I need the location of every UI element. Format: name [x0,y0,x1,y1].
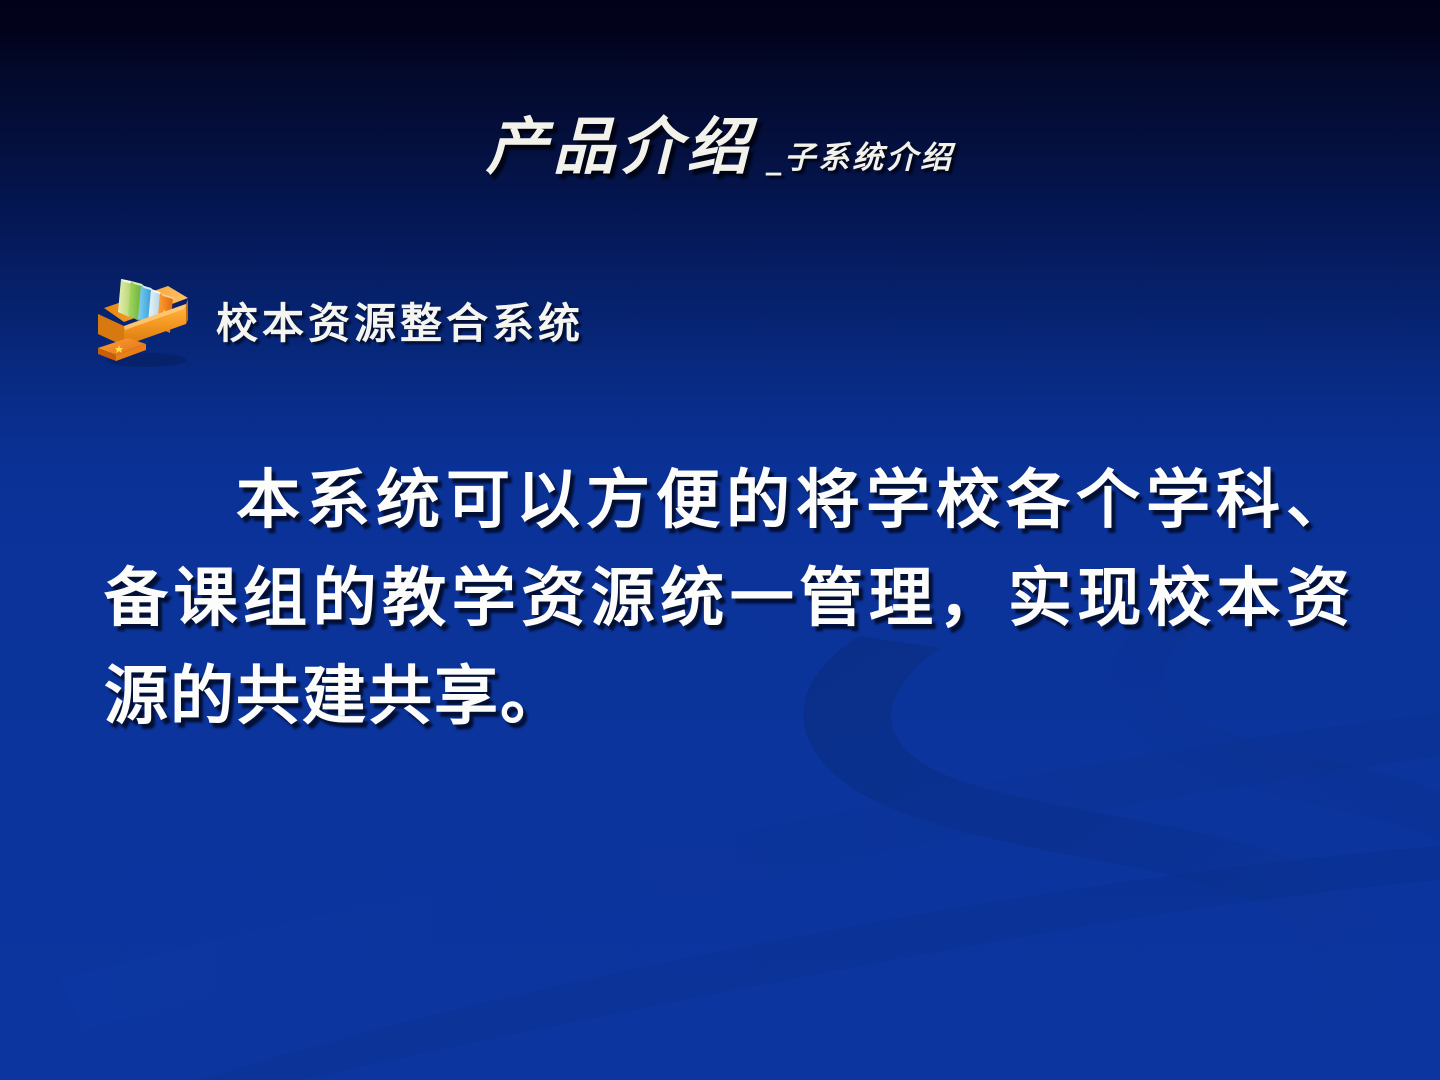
title-subtitle-text: _子系统介绍 [766,140,955,176]
bookshelf-icon [84,268,200,372]
bullet-item-resource-system: 校本资源整合系统 [84,268,584,372]
presentation-slide: 产品介绍_子系统介绍 [0,0,1440,1080]
bullet-item-label: 校本资源整合系统 [216,290,584,351]
title-main-text: 产品介绍 [486,110,754,183]
slide-title: 产品介绍_子系统介绍 [0,96,1440,186]
body-paragraph: 本系统可以方便的将学校各个学科、备课组的教学资源统一管理，实现校本资源的共建共享… [104,452,1352,746]
